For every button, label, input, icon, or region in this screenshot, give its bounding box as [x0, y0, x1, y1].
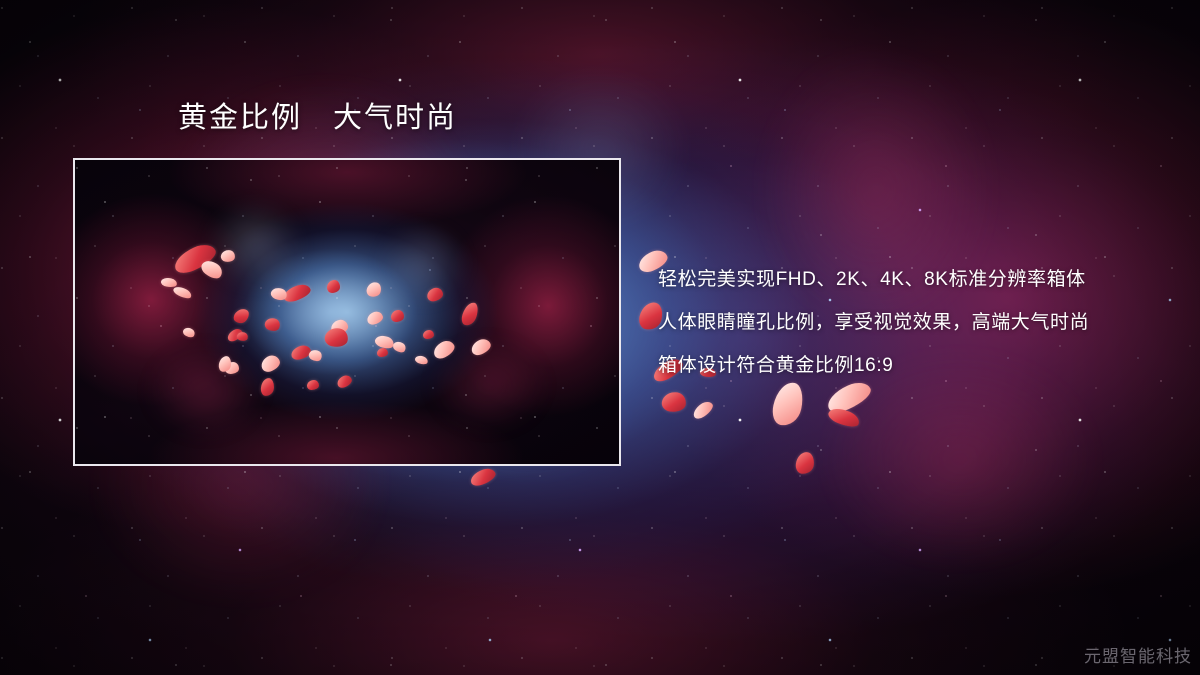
- brand-watermark: 元盟智能科技: [1084, 642, 1192, 667]
- petal: [468, 466, 497, 488]
- petal: [691, 399, 716, 421]
- body-line-1: 轻松完美实现FHD、2K、4K、8K标准分辨率箱体: [658, 258, 1178, 301]
- framed-image: [73, 158, 621, 466]
- framed-image-wisps: [75, 160, 619, 464]
- page-title: 黄金比例 大气时尚: [178, 100, 457, 136]
- body-text-block: 轻松完美实现FHD、2K、4K、8K标准分辨率箱体 人体眼睛瞳孔比例，享受视觉效…: [658, 258, 1178, 387]
- petal: [795, 451, 815, 475]
- petal: [661, 390, 688, 413]
- body-line-3: 箱体设计符合黄金比例16:9: [658, 344, 1178, 387]
- body-line-2: 人体眼睛瞳孔比例，享受视觉效果，高端大气时尚: [658, 301, 1178, 344]
- slide-canvas: 黄金比例 大气时尚 轻松完美实现FHD、2K、4K、8K标准分辨率箱体 人体眼睛…: [0, 0, 1200, 675]
- petal: [826, 405, 861, 431]
